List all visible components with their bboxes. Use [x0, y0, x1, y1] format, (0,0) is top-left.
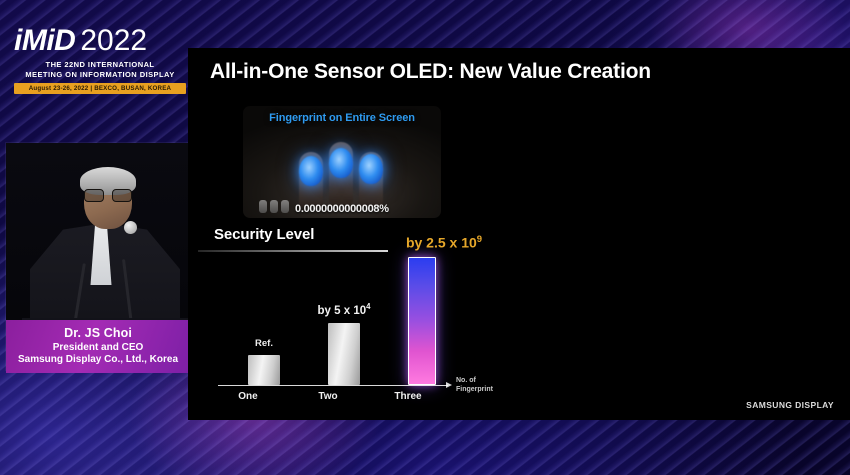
false-acceptance-rate-value: 0.0000000000008%	[295, 203, 389, 215]
fingerprint-glow-1	[299, 156, 323, 186]
fingerprint-glow-2	[329, 148, 353, 178]
logo-letters-mid: MiD	[22, 24, 76, 57]
bar-one	[248, 355, 280, 385]
slide-title: All-in-One Sensor OLED: New Value Creati…	[210, 60, 651, 84]
security-level-bar-chart: Security Level Ref. One by 5 x 104 Two b…	[188, 226, 850, 420]
axis-label-line-2: Fingerprint	[456, 385, 493, 394]
fingerprint-thumbnail-icons	[259, 200, 289, 213]
samsung-display-watermark: SAMSUNG DISPLAY	[746, 400, 834, 410]
logo-letter-i: i	[14, 24, 22, 57]
fingerprint-demo-video[interactable]: Fingerprint on Entire Screen 0.000000000…	[243, 106, 441, 218]
microphone-windscreen	[124, 221, 137, 234]
logo-year: 2022	[80, 24, 147, 57]
logo-wordmark: iMiD2022	[14, 26, 192, 56]
fingerprint-icon-2	[270, 200, 278, 213]
bar-two-value-exponent: 4	[366, 302, 370, 311]
chart-title-underline	[198, 250, 388, 252]
bar-three-value-exponent: 9	[477, 234, 482, 245]
bar-three-value-prefix: by 2.5 x 10	[406, 235, 477, 251]
speaker-nameplate: Dr. JS Choi President and CEO Samsung Di…	[6, 320, 190, 373]
bar-three	[408, 257, 436, 385]
imid-event-logo: iMiD2022 THE 22ND INTERNATIONAL MEETING …	[14, 26, 192, 94]
bar-three-value-label: by 2.5 x 109	[384, 234, 504, 251]
bar-two	[328, 323, 360, 385]
bar-group-three: by 2.5 x 109	[378, 225, 498, 385]
fingerprint-glow-3	[359, 154, 383, 184]
fingerprint-icon-1	[259, 200, 267, 213]
fingerprint-icon-3	[281, 200, 289, 213]
presentation-slide[interactable]: All-in-One Sensor OLED: New Value Creati…	[188, 48, 850, 420]
speaker-glasses	[84, 189, 132, 200]
bar-two-value-prefix: by 5 x 10	[318, 305, 367, 317]
axis-label-line-1: No. of	[456, 376, 493, 385]
speaker-organization: Samsung Display Co., Ltd., Korea	[18, 354, 178, 366]
logo-subtitle: THE 22ND INTERNATIONAL MEETING ON INFORM…	[14, 60, 186, 80]
chart-title: Security Level	[214, 226, 314, 243]
bar-three-category-label: Three	[348, 391, 468, 402]
chart-x-axis	[218, 385, 448, 386]
logo-date-venue-bar: August 23-26, 2022 | BEXCO, BUSAN, KOREA	[14, 83, 186, 95]
chart-x-axis-arrow	[446, 382, 452, 388]
speaker-name: Dr. JS Choi	[64, 327, 132, 341]
fingerprint-video-caption: Fingerprint on Entire Screen	[243, 112, 441, 124]
speaker-role: President and CEO	[53, 342, 144, 354]
chart-x-axis-label: No. of Fingerprint	[456, 376, 493, 395]
